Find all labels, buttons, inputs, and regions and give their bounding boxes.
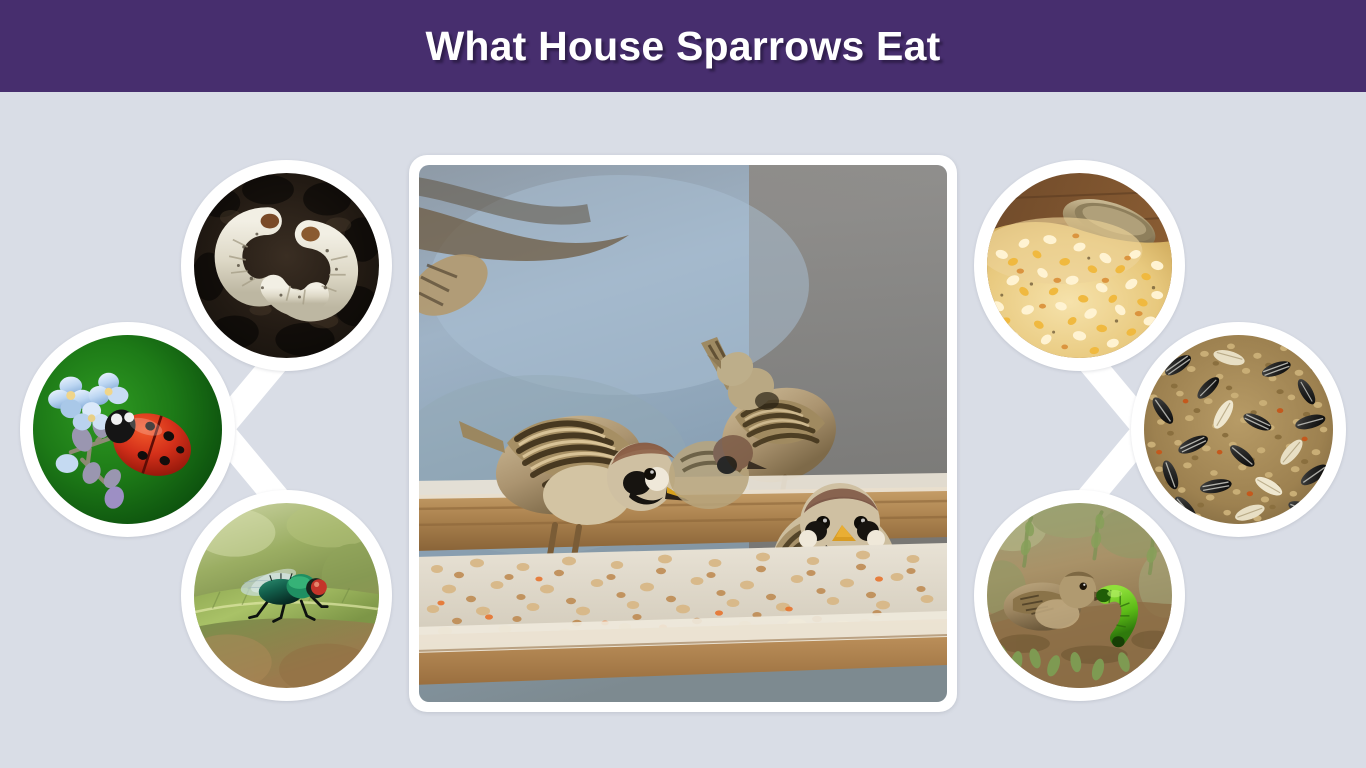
cracked-corn-with-scoop-icon <box>987 173 1172 358</box>
mixed-birdseed-photo <box>1144 335 1333 524</box>
cracked-corn-photo <box>987 173 1172 358</box>
food-circle-caterpillar-prey[interactable] <box>974 490 1185 701</box>
fly-photo <box>194 503 379 688</box>
grubs-photo <box>194 173 379 358</box>
infographic-stage <box>0 92 1366 768</box>
page-title: What House Sparrows Eat <box>426 23 941 70</box>
sparrow-with-green-caterpillar-icon <box>987 503 1172 688</box>
infographic-page: What House Sparrows Eat <box>0 0 1366 768</box>
caterpillar-prey-photo <box>987 503 1172 688</box>
center-photo <box>419 165 947 702</box>
food-circle-fly[interactable] <box>181 490 392 701</box>
center-photo-frame[interactable] <box>409 155 957 712</box>
ladybug-on-blue-flowers-icon <box>33 335 222 524</box>
house-sparrows-feeding-icon <box>419 165 947 702</box>
ladybug-photo <box>33 335 222 524</box>
green-bottle-fly-on-leaf-icon <box>194 503 379 688</box>
beetle-grubs-in-soil-icon <box>194 173 379 358</box>
header-band: What House Sparrows Eat <box>0 0 1366 92</box>
mixed-birdseed-with-sunflower-icon <box>1144 335 1333 524</box>
